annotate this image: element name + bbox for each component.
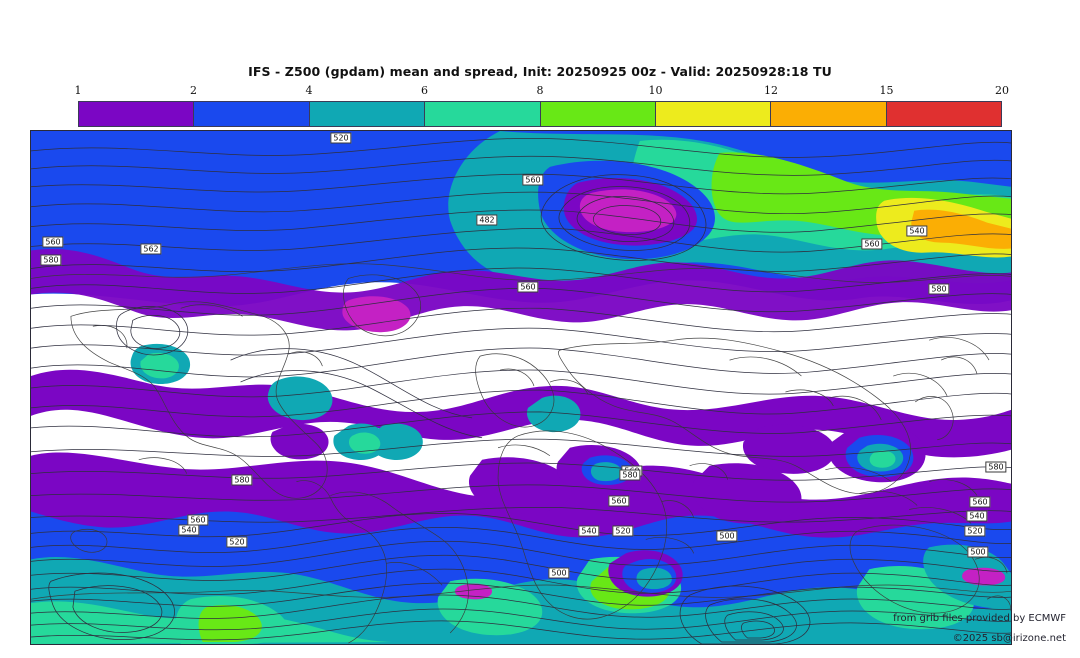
colorbar-segment-7[interactable] xyxy=(771,102,886,126)
contour-label: 500 xyxy=(548,568,569,579)
map-svg xyxy=(31,131,1011,644)
contour-label: 500 xyxy=(967,547,988,558)
contour-label: 540 xyxy=(178,525,199,536)
contour-label: 580 xyxy=(985,462,1006,473)
data-source-credit: from grib files provided by ECMWF xyxy=(893,613,1066,624)
contour-label: 580 xyxy=(619,470,640,481)
colorbar-tick-12: 12 xyxy=(764,84,778,97)
contour-label: 482 xyxy=(476,215,497,226)
contour-label: 580 xyxy=(40,255,61,266)
colorbar-tick-1: 1 xyxy=(75,84,82,97)
colorbar-segment-2[interactable] xyxy=(194,102,309,126)
contour-label: 520 xyxy=(964,526,985,537)
colorbar-tick-2: 2 xyxy=(190,84,197,97)
colorbar-segment-4[interactable] xyxy=(425,102,540,126)
colorbar: 1246810121520 xyxy=(78,84,1002,128)
contour-label: 520 xyxy=(330,133,351,144)
contour-label: 500 xyxy=(716,531,737,542)
colorbar-segment-3[interactable] xyxy=(310,102,425,126)
map-canvas[interactable]: 5205604825605625805405605805605805605805… xyxy=(30,130,1012,645)
contour-label: 560 xyxy=(522,175,543,186)
contour-label: 560 xyxy=(861,239,882,250)
contour-label: 560 xyxy=(517,282,538,293)
contour-label: 540 xyxy=(966,511,987,522)
colorbar-tick-6: 6 xyxy=(421,84,428,97)
colorbar-segment-5[interactable] xyxy=(541,102,656,126)
copyright-credit: ©2025 sb@irizone.net xyxy=(953,633,1066,644)
contour-label: 520 xyxy=(226,537,247,548)
page-title: IFS - Z500 (gpdam) mean and spread, Init… xyxy=(0,64,1080,79)
colorbar-tick-labels: 1246810121520 xyxy=(78,84,1002,100)
colorbar-tick-20: 20 xyxy=(995,84,1009,97)
colorbar-segment-8[interactable] xyxy=(887,102,1001,126)
contour-label: 580 xyxy=(928,284,949,295)
contour-label: 560 xyxy=(42,237,63,248)
contour-label: 562 xyxy=(140,244,161,255)
contour-label: 580 xyxy=(231,475,252,486)
spread-wpac-green xyxy=(870,450,896,467)
colorbar-segment-1[interactable] xyxy=(79,102,194,126)
contour-label: 560 xyxy=(608,496,629,507)
colorbar-tick-15: 15 xyxy=(880,84,894,97)
contour-label: 540 xyxy=(906,226,927,237)
contour-label: 560 xyxy=(969,497,990,508)
colorbar-tick-8: 8 xyxy=(537,84,544,97)
weather-map-page: IFS - Z500 (gpdam) mean and spread, Init… xyxy=(0,0,1080,658)
colorbar-swatches xyxy=(78,101,1002,127)
colorbar-segment-6[interactable] xyxy=(656,102,771,126)
contour-label: 520 xyxy=(612,526,633,537)
colorbar-tick-10: 10 xyxy=(649,84,663,97)
spread-trop-teal-2 xyxy=(636,568,671,589)
contour-label: 540 xyxy=(578,526,599,537)
colorbar-tick-4: 4 xyxy=(306,84,313,97)
